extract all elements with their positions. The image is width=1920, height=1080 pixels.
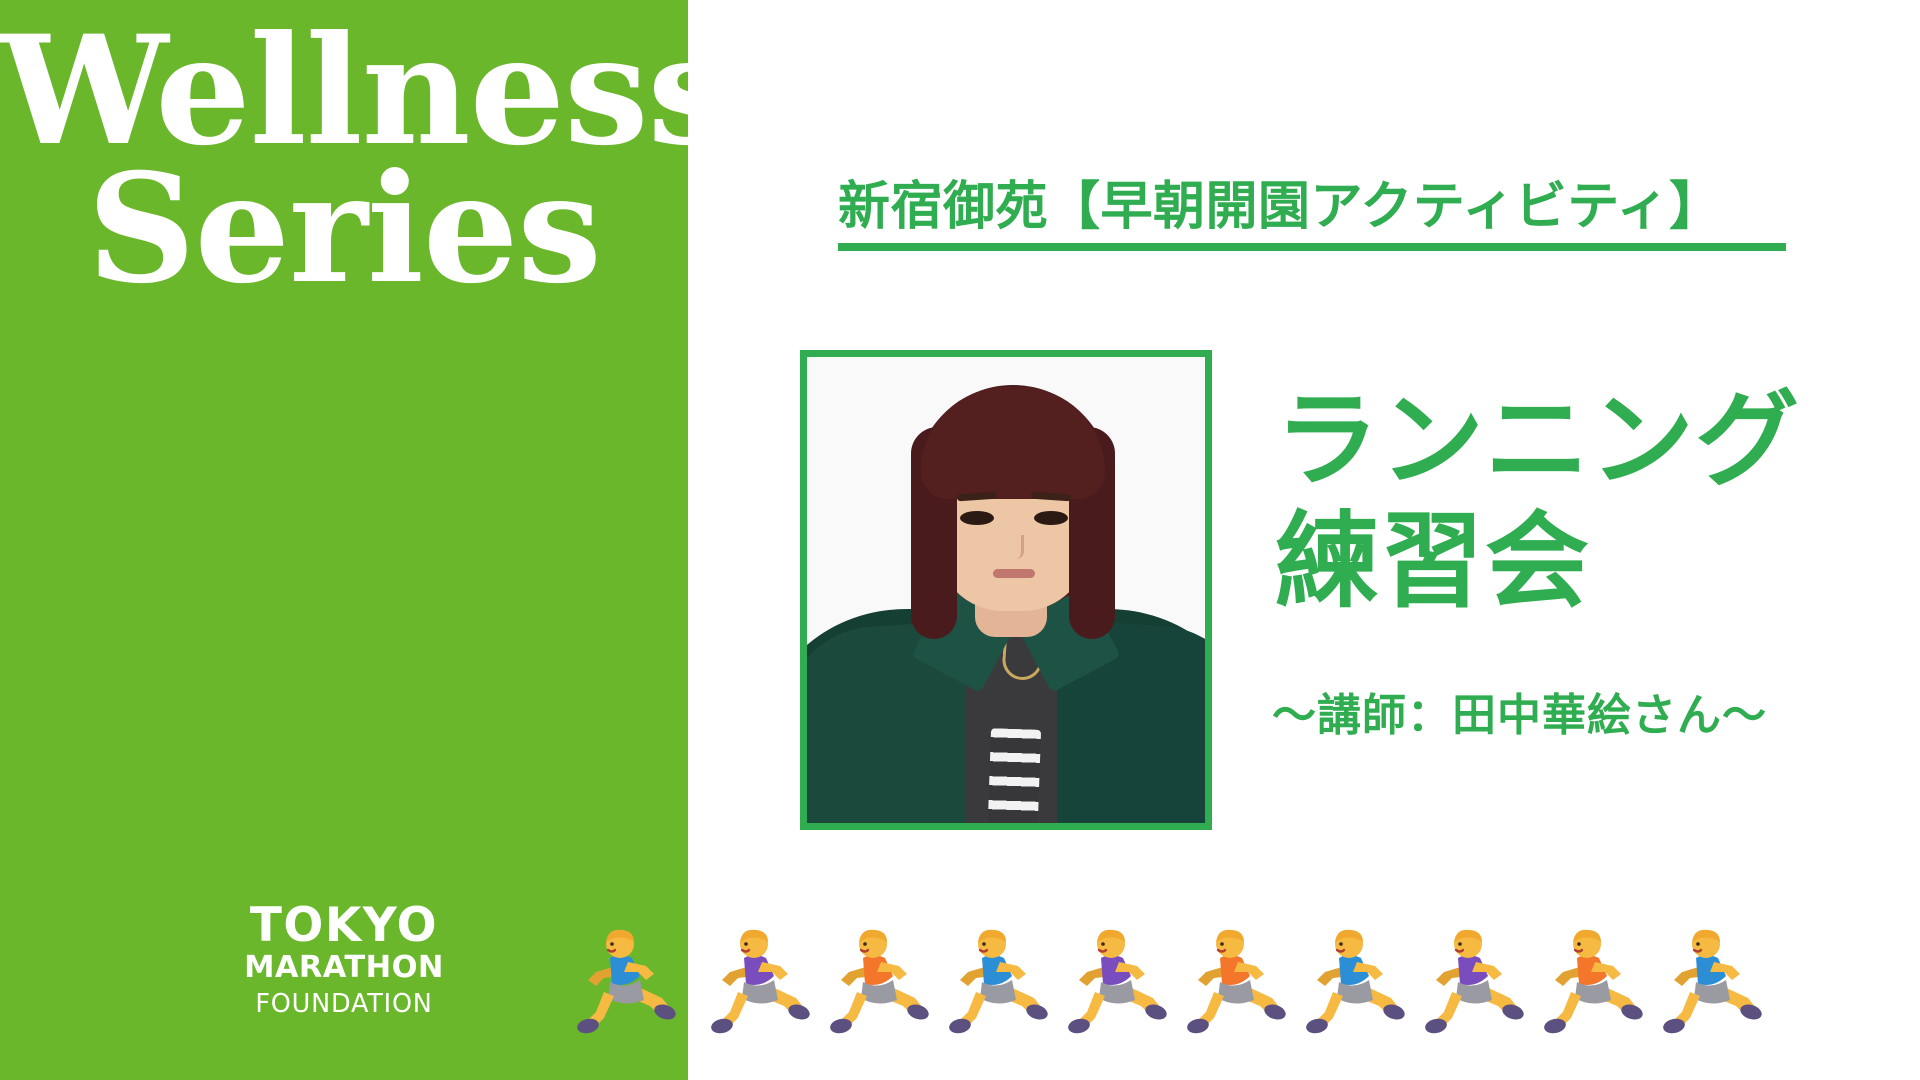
speaker-photo-frame (800, 350, 1212, 830)
photo-mouth (993, 569, 1035, 578)
photo-eye-left (960, 511, 994, 525)
logo-line-tokyo: TOKYO (240, 902, 448, 949)
running-person-emoji (570, 922, 678, 1042)
running-person-emoji (1180, 922, 1288, 1042)
wordmark-line-wellness: Wellness (0, 22, 688, 160)
left-green-panel: Wellness Series TOKYO MARATHON FOUNDATIO… (0, 0, 688, 1080)
speaker-photo (807, 357, 1205, 823)
running-person-emoji (1537, 922, 1645, 1042)
event-title-underline (838, 243, 1786, 251)
photo-hair-fringe (943, 449, 1085, 493)
tokyo-marathon-foundation-logo: TOKYO MARATHON FOUNDATION (240, 902, 448, 1022)
running-person-emoji (1299, 922, 1407, 1042)
running-person-emoji (704, 922, 812, 1042)
running-person-emoji (823, 922, 931, 1042)
series-wordmark: Wellness Series (0, 22, 688, 298)
instructor-line: 〜講師：田中華絵さん〜 (1272, 692, 1767, 740)
photo-eye-right (1034, 511, 1068, 525)
photo-nose (1007, 535, 1024, 559)
poster-canvas: Wellness Series TOKYO MARATHON FOUNDATIO… (0, 0, 1920, 1080)
headline-line-1: ランニング (1275, 380, 1800, 501)
photo-tee-stripes (987, 728, 1041, 830)
running-person-emoji (942, 922, 1050, 1042)
logo-line-marathon: MARATHON (240, 949, 448, 987)
runner-strip (570, 922, 1920, 1062)
running-person-emoji (1061, 922, 1169, 1042)
wordmark-line-series: Series (0, 160, 688, 298)
logo-line-foundation: FOUNDATION (240, 987, 448, 1021)
headline-line-2: 練習会 (1275, 501, 1800, 622)
headline: ランニング 練習会 (1275, 380, 1800, 621)
running-person-emoji (1656, 922, 1764, 1042)
running-person-emoji (1418, 922, 1526, 1042)
event-title: 新宿御苑【早朝開園アクティビティ】 (838, 178, 1722, 236)
